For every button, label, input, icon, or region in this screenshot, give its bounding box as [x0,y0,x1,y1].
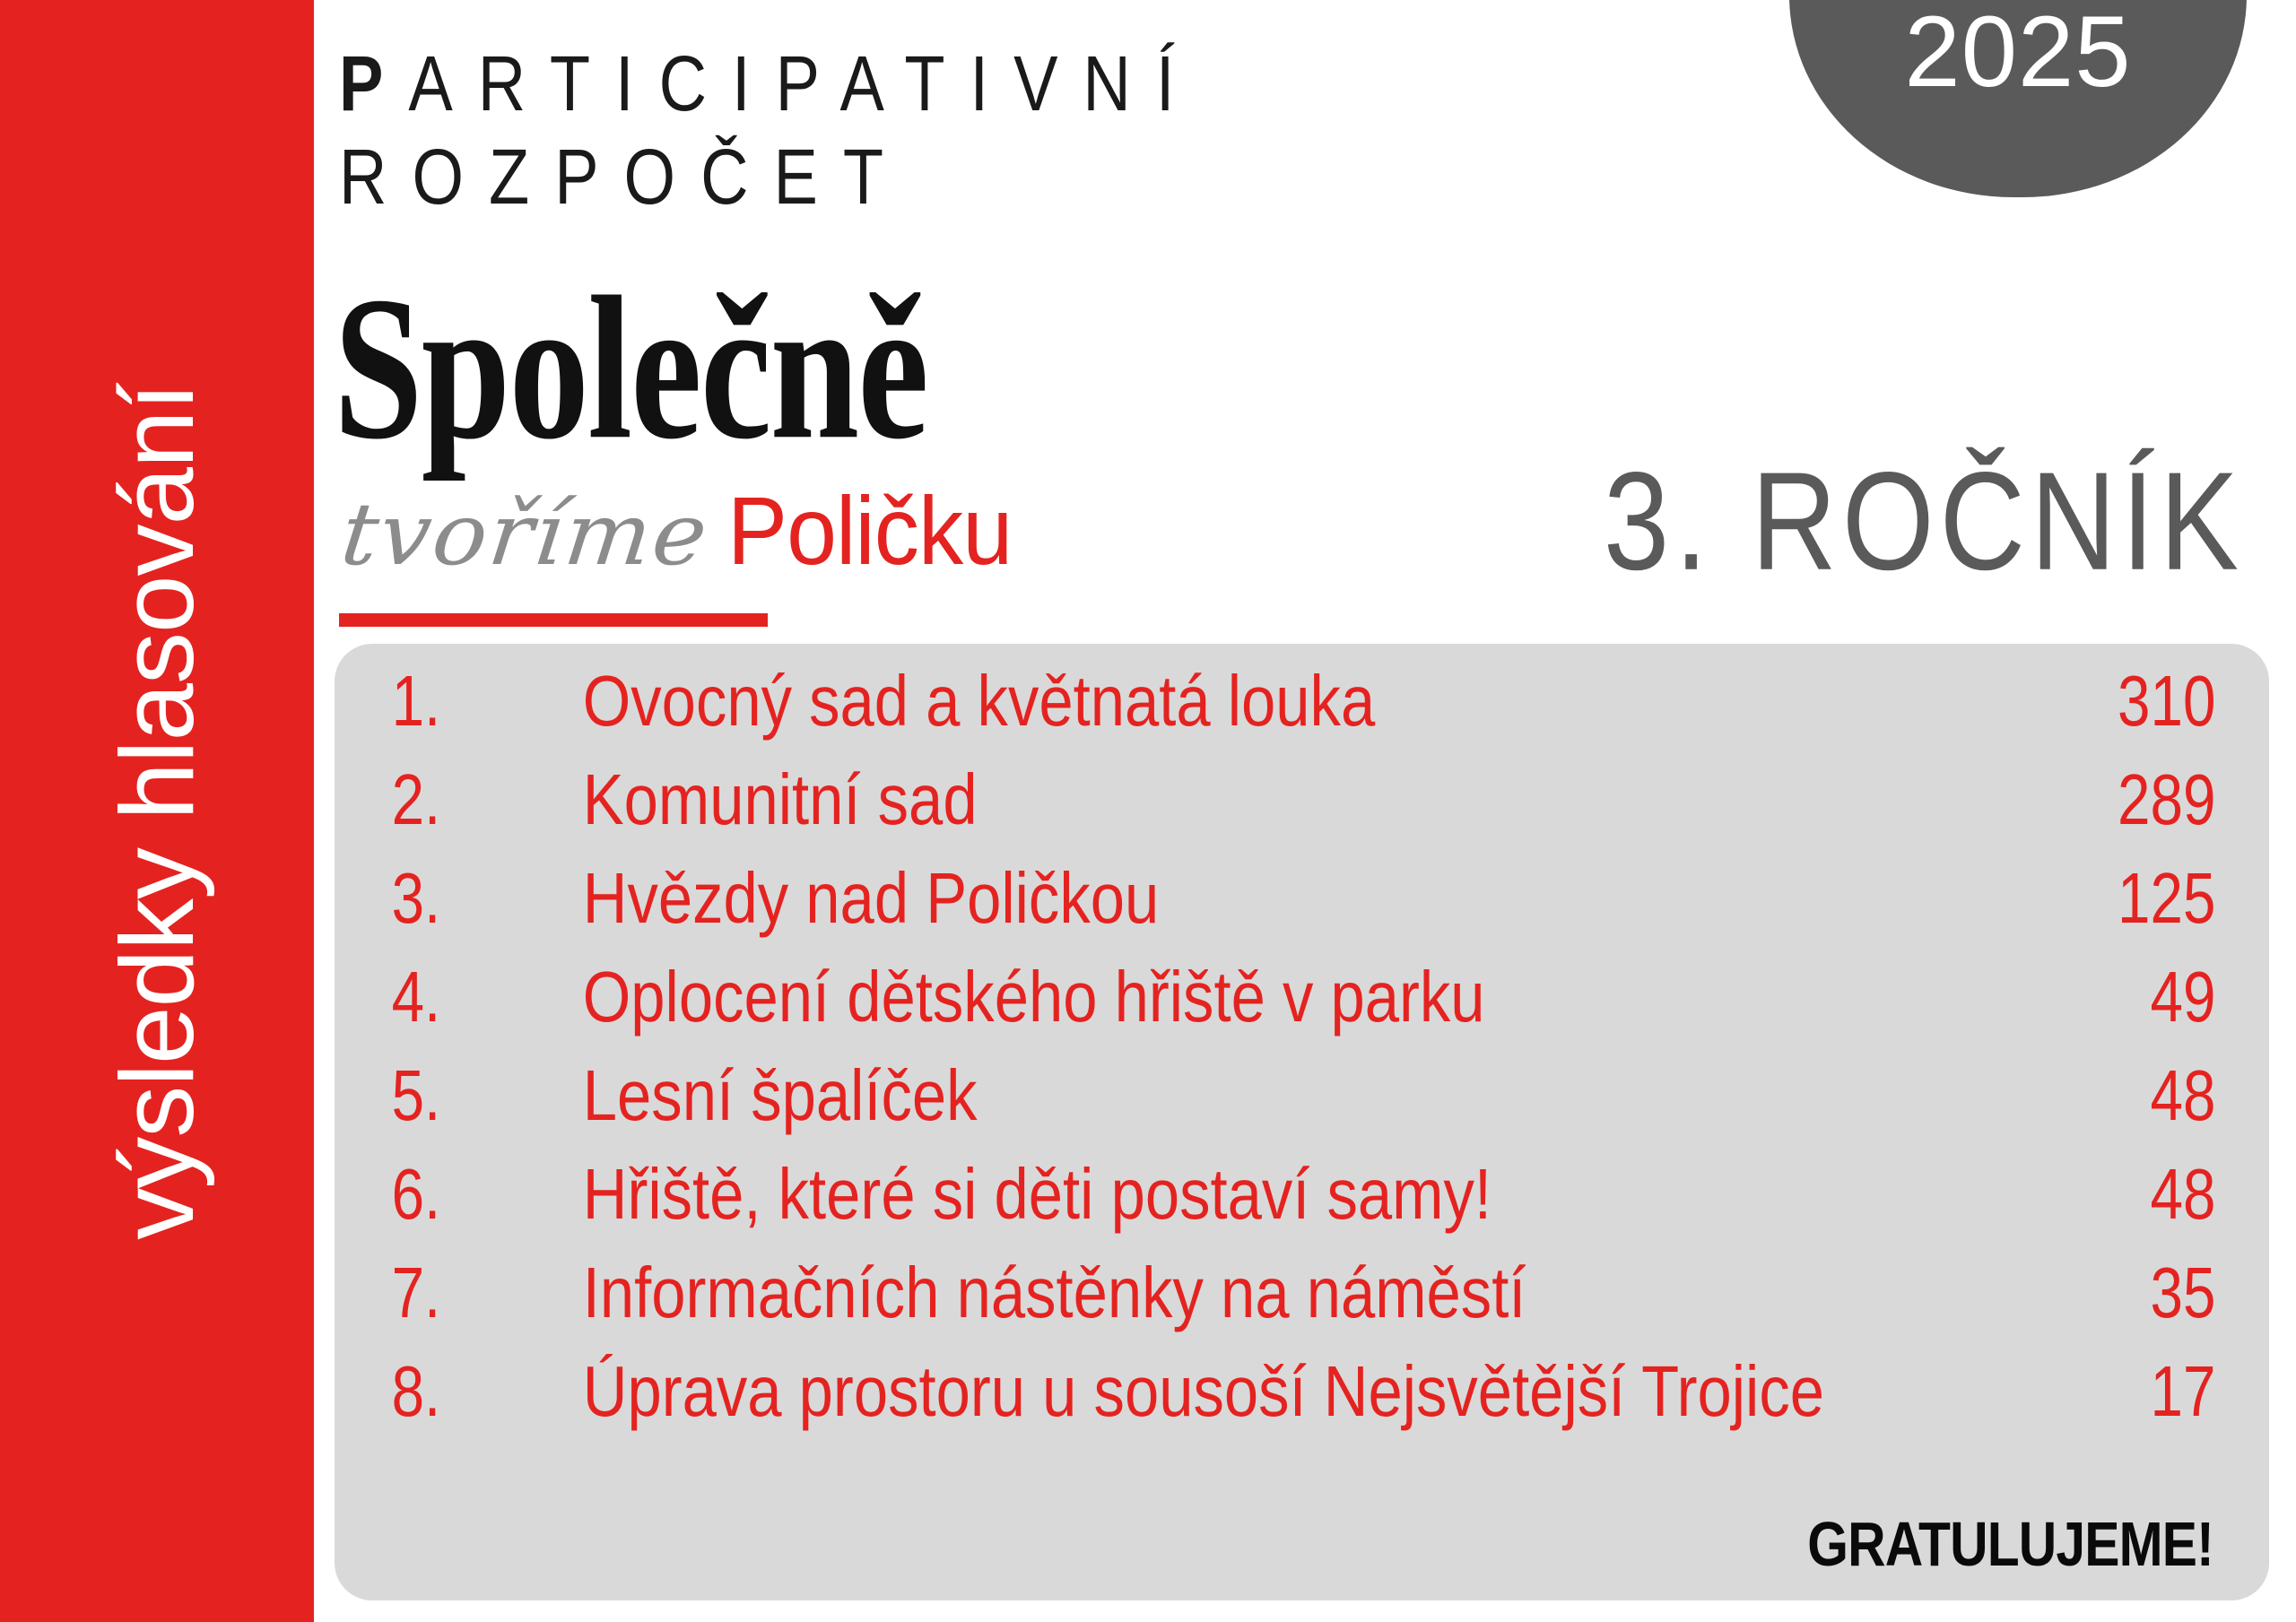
kicker-lead-letter: P [339,39,408,127]
result-row: 8.Úprava prostoru u sousoší Nejsvětější … [352,1356,2228,1454]
sidebar: výsledky hlasování [0,0,314,1622]
result-row: 4.Oplocení dětského hřiště v parku49 [352,961,2228,1060]
year-badge-label: 2025 [1789,0,2247,109]
result-votes: 125 [2106,863,2216,934]
kicker-line-1: PARTICIPATIVNÍ [339,39,1819,128]
result-rank: 8. [361,1356,441,1427]
result-row: 1.Ovocný sad a květnatá louka310 [352,665,2228,764]
result-rank: 2. [361,764,441,836]
result-votes: 48 [2106,1060,2216,1132]
result-rank: 7. [361,1257,441,1329]
result-title: Komunitní sad [583,764,1979,836]
result-title: Ovocný sad a květnatá louka [583,665,1979,737]
kicker-line-2: ROZPOČET [339,133,1819,221]
wordmark-subline: tvoříme Poličku [337,482,1033,579]
result-title: Oplocení dětského hřiště v parku [583,961,1979,1033]
wordmark-tvorime: tvoříme [337,491,713,577]
congratulations-label: GRATULUJEME! [1807,1513,2213,1575]
year-badge: 2025 [1789,0,2247,197]
result-title: Lesní špalíček [583,1060,1979,1132]
result-row: 3.Hvězdy nad Poličkou125 [352,863,2228,961]
wordmark-spolecne: Společně [334,276,927,460]
result-rank: 5. [361,1060,441,1132]
result-votes: 310 [2106,665,2216,737]
wordmark-block: Společně tvoříme Poličku [334,276,1024,443]
kicker-line-1-rest: ARTICIPATIVNÍ [408,39,1199,127]
result-row: 5.Lesní špalíček48 [352,1060,2228,1158]
edition-label: 3. ROČNÍK [1604,441,2244,601]
result-row: 7.Informačních nástěnky na náměstí35 [352,1257,2228,1356]
wordmark-policku: Poličku [727,482,1012,579]
result-title: Informačních nástěnky na náměstí [583,1257,1979,1329]
result-title: Úprava prostoru u sousoší Nejsvětější Tr… [583,1356,1979,1427]
result-rank: 1. [361,665,441,737]
result-rank: 3. [361,863,441,934]
result-votes: 49 [2106,961,2216,1033]
results-panel: 1.Ovocný sad a květnatá louka3102.Komuni… [335,644,2269,1600]
results-list: 1.Ovocný sad a květnatá louka3102.Komuni… [335,665,2269,1454]
sidebar-vertical-label: výsledky hlasování [97,383,217,1240]
result-row: 6.Hřiště, které si děti postaví samy!48 [352,1158,2228,1257]
poster-root: výsledky hlasování 2025 PARTICIPATIVNÍ R… [0,0,2296,1622]
result-rank: 4. [361,961,441,1033]
result-row: 2.Komunitní sad289 [352,764,2228,863]
result-votes: 289 [2106,764,2216,836]
result-votes: 35 [2106,1257,2216,1329]
result-rank: 6. [361,1158,441,1230]
kicker-block: PARTICIPATIVNÍ ROZPOČET [339,39,1819,208]
result-votes: 48 [2106,1158,2216,1230]
result-title: Hřiště, které si děti postaví samy! [583,1158,1979,1230]
script-underline-rule [339,613,768,627]
result-title: Hvězdy nad Poličkou [583,863,1979,934]
result-votes: 17 [2106,1356,2216,1427]
